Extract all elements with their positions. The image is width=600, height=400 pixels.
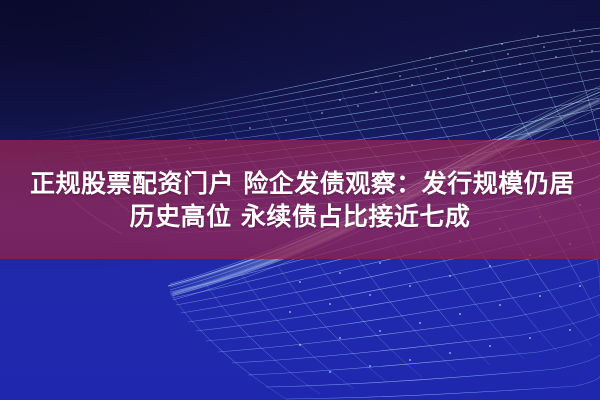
- news-thumbnail-banner: 正规股票配资门户 险企发债观察：发行规模仍居 历史高位 永续债占比接近七成: [0, 0, 600, 400]
- headline-line-2: 历史高位 永续债占比接近七成: [130, 203, 471, 230]
- headline-block: 正规股票配资门户 险企发债观察：发行规模仍居 历史高位 永续债占比接近七成: [0, 140, 600, 259]
- headline-line-1: 正规股票配资门户 险企发债观察：发行规模仍居: [16, 170, 575, 197]
